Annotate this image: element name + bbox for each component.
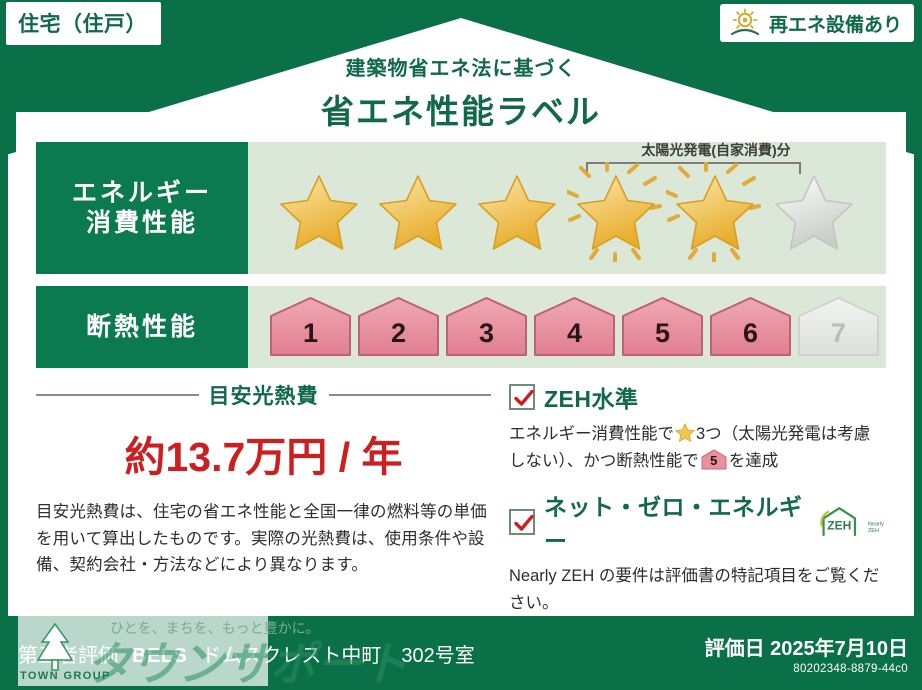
- insulation-level-3: 3: [444, 296, 529, 358]
- insulation-level-value-4: 4: [532, 318, 617, 349]
- insulation-performance-row: 断熱性能 1234567: [36, 286, 886, 368]
- utility-cost-column: 目安光熱費 約13.7万円 / 年 目安光熱費は、住宅の省エネ性能と全国一律の燃…: [36, 380, 491, 610]
- label-footer: 第三者評価 BELS ドムスクレスト中町 302号室 評価日 2025年7月10…: [0, 616, 922, 690]
- zeh-body-part1: エネルギー消費性能で: [509, 425, 674, 443]
- insulation-level-5: 5: [620, 296, 705, 358]
- footer-bels: BELS: [132, 645, 187, 668]
- title-subtitle: 建築物省エネ法に基づく: [0, 52, 922, 81]
- footer-evaluation-label: 第三者評価: [18, 639, 118, 668]
- insulation-level-1: 1: [268, 296, 353, 358]
- insulation-level-value-2: 2: [356, 318, 441, 349]
- star-4: [567, 158, 664, 258]
- header-band: 住宅（住戸） 再エネ設備あり 建築物省エネ法に基づく 省エ: [0, 0, 922, 128]
- rule-left: [36, 394, 199, 396]
- insulation-level-4: 4: [532, 296, 617, 358]
- label-title: 建築物省エネ法に基づく 省エネ性能ラベル: [0, 52, 922, 133]
- utility-cost-value: 約13.7万円 / 年: [36, 423, 491, 483]
- insulation-level-value-5: 5: [620, 318, 705, 349]
- star-5: [666, 158, 763, 258]
- insulation-level-value-7: 7: [796, 318, 881, 349]
- utility-cost-heading-text: 目安光熱費: [209, 380, 319, 410]
- net-zero-checkbox: [509, 509, 535, 535]
- insulation-level-6: 6: [708, 296, 793, 358]
- utility-cost-heading: 目安光熱費: [36, 380, 491, 410]
- inline-house-level-value: 5: [701, 449, 727, 470]
- insulation-label-panel: 断熱性能: [36, 286, 248, 368]
- insulation-level-value-6: 6: [708, 318, 793, 349]
- zeh-standard-checkbox: [509, 384, 535, 410]
- insulation-level-value-3: 3: [444, 318, 529, 349]
- energy-label-line1: エネルギー: [72, 178, 212, 209]
- star-2: [369, 158, 466, 258]
- star-shape-1: [275, 172, 363, 256]
- net-zero-heading: ネット・ゼロ・エネルギー ZEH Nearly ZEH: [509, 488, 886, 556]
- star-shape-4: [572, 172, 660, 256]
- inline-star-icon: [675, 423, 695, 442]
- check-icon: [513, 387, 535, 409]
- footer-left: 第三者評価 BELS ドムスクレスト中町 302号室: [18, 639, 475, 668]
- zeh-standard-heading: ZEH水準: [509, 380, 886, 414]
- certification-column: ZEH水準 エネルギー消費性能で3つ（太陽光発電は考慮しない）、かつ断熱性能で5…: [491, 380, 886, 610]
- footer-property-name: ドムスクレスト中町 302号室: [201, 639, 474, 668]
- footer-evaluation-date: 評価日 2025年7月10日: [705, 632, 908, 661]
- star-shape-6: [770, 172, 858, 256]
- net-zero-title: ネット・ゼロ・エネルギー: [544, 488, 805, 556]
- check-icon: [513, 512, 535, 534]
- svg-text:Nearly: Nearly: [868, 522, 884, 528]
- insulation-level-value-1: 1: [268, 318, 353, 349]
- zeh-logo-icon: ZEH Nearly ZEH: [818, 504, 886, 540]
- insulation-level-7: 7: [796, 296, 881, 358]
- footer-right: 評価日 2025年7月10日 80202348-8879-44c0: [705, 632, 908, 675]
- details-area: 目安光熱費 約13.7万円 / 年 目安光熱費は、住宅の省エネ性能と全国一律の燃…: [36, 380, 886, 610]
- insulation-levels-area: 1234567: [248, 286, 886, 368]
- tag-renewable-label: 再エネ設備あり: [769, 10, 902, 37]
- insulation-level-2: 2: [356, 296, 441, 358]
- utility-cost-note: 目安光熱費は、住宅の省エネ性能と全国一律の燃料等の単価を用いて算出したものです。…: [36, 499, 491, 579]
- zeh-standard-block: ZEH水準 エネルギー消費性能で3つ（太陽光発電は考慮しない）、かつ断熱性能で5…: [509, 380, 886, 474]
- zeh-star-count: 3つ: [696, 425, 722, 443]
- star-3: [468, 158, 565, 258]
- tag-renewable-equipment: 再エネ設備あり: [720, 4, 914, 42]
- energy-label-line2: 消費性能: [86, 208, 198, 239]
- sun-icon: [728, 8, 762, 38]
- tag-housing-type: 住宅（住戸）: [6, 2, 161, 45]
- net-zero-block: ネット・ゼロ・エネルギー ZEH Nearly ZEH Nearly ZEH の…: [509, 488, 886, 616]
- title-main: 省エネ性能ラベル: [0, 85, 922, 133]
- star-6: [765, 158, 862, 258]
- inline-house-level-icon: 5: [701, 449, 727, 470]
- energy-performance-label-panel: エネルギー 消費性能: [36, 142, 248, 274]
- energy-stars-area: 太陽光発電(自家消費)分: [248, 142, 886, 274]
- net-zero-body: Nearly ZEH の要件は評価書の特記項目をご覧ください。: [509, 563, 886, 616]
- zeh-standard-body: エネルギー消費性能で3つ（太陽光発電は考慮しない）、かつ断熱性能で5を達成: [509, 421, 886, 474]
- rule-right: [329, 394, 492, 396]
- svg-text:ZEH: ZEH: [827, 519, 851, 533]
- star-1: [270, 158, 367, 258]
- zeh-standard-title: ZEH水準: [544, 380, 639, 414]
- zeh-body-part3: を達成: [729, 452, 779, 470]
- energy-performance-label: 住宅（住戸） 再エネ設備あり 建築物省エネ法に基づく 省エ: [0, 0, 922, 690]
- footer-label-id: 80202348-8879-44c0: [705, 663, 908, 675]
- star-rating: [248, 158, 862, 258]
- insulation-level-scale: 1234567: [248, 296, 881, 358]
- svg-text:ZEH: ZEH: [868, 529, 879, 535]
- star-shape-5: [671, 172, 759, 256]
- energy-performance-row: エネルギー 消費性能 太陽光発電(自家消費)分: [36, 142, 886, 274]
- solar-contribution-note: 太陽光発電(自家消費)分: [586, 140, 846, 160]
- star-shape-2: [374, 172, 462, 256]
- star-shape-3: [473, 172, 561, 256]
